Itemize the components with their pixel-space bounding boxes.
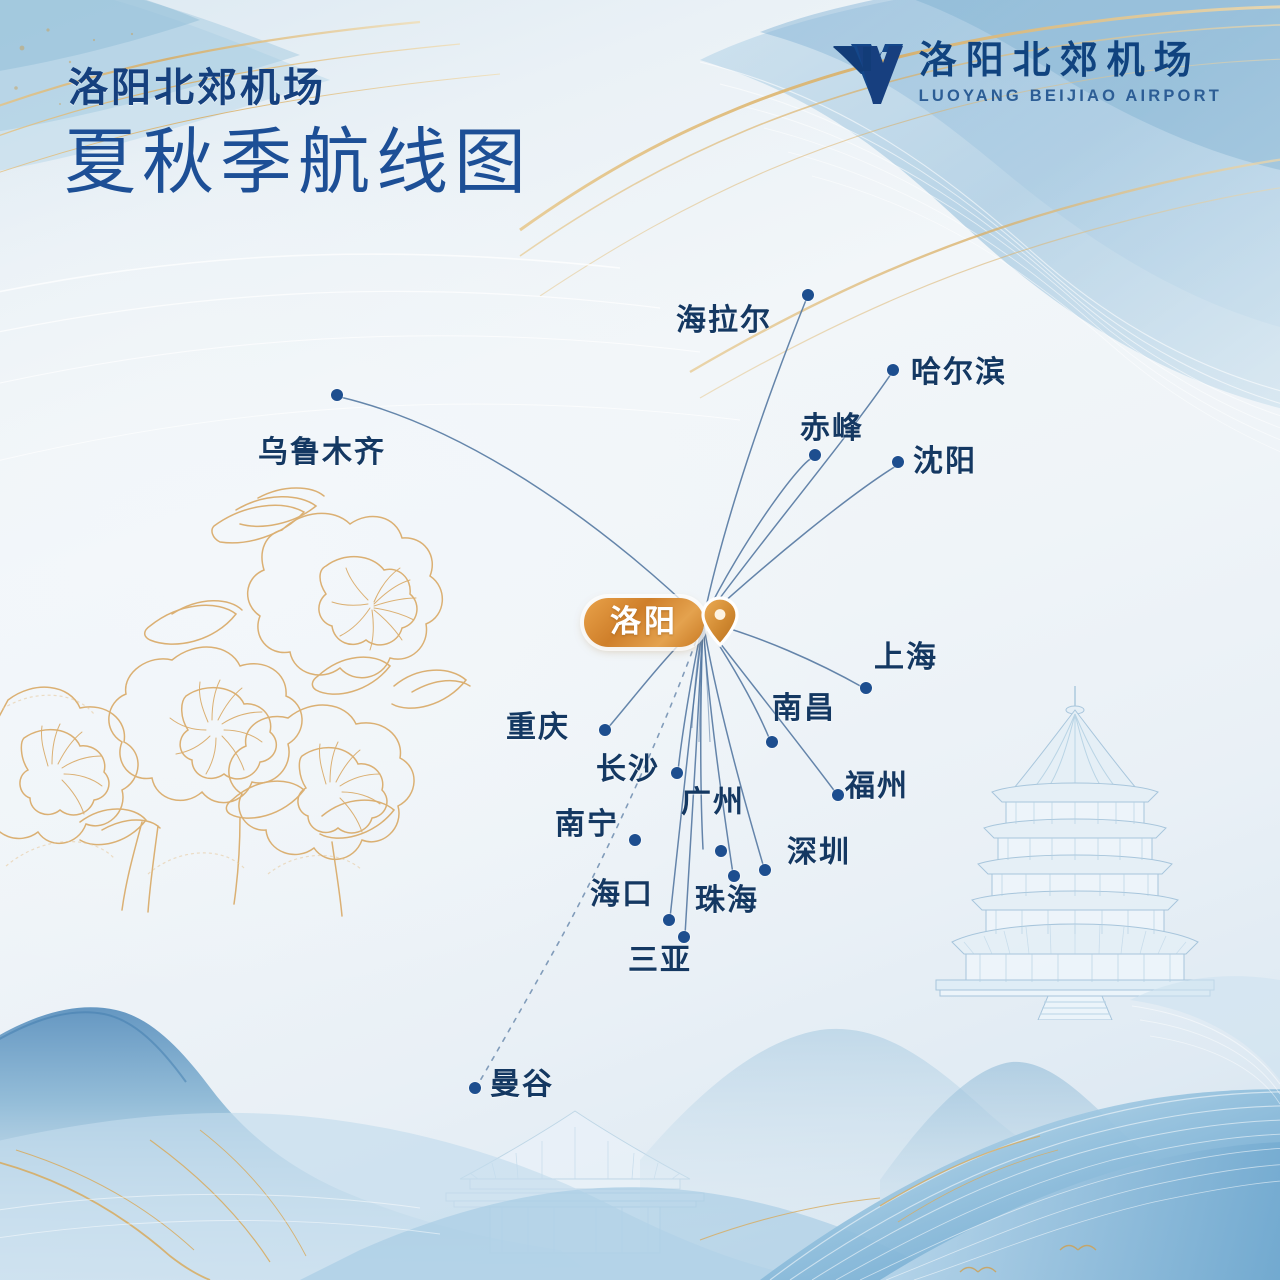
- route-hailaer: [703, 300, 806, 621]
- city-label: 海口: [590, 880, 654, 910]
- city-dot: [802, 289, 814, 301]
- city-dot: [860, 682, 872, 694]
- city-label: 福州: [845, 772, 909, 802]
- city-dot: [728, 870, 740, 882]
- city-label: 重庆: [506, 713, 570, 743]
- city-label: 乌鲁木齐: [258, 438, 386, 468]
- logo-v-mark-icon: [831, 40, 905, 108]
- city-label: 广州: [681, 788, 745, 818]
- city-dot: [715, 845, 727, 857]
- logo-text: 洛阳北郊机场 LUOYANG BEIJIAO AIRPORT: [919, 42, 1222, 106]
- page-title: 洛阳北郊机场: [68, 66, 532, 110]
- city-dot: [599, 724, 611, 736]
- city-label: 南昌: [772, 694, 836, 724]
- city-dot: [832, 789, 844, 801]
- city-label: 长沙: [596, 755, 660, 785]
- city-dot: [809, 449, 821, 461]
- city-dot: [469, 1082, 481, 1094]
- city-label: 三亚: [628, 946, 692, 976]
- city-label: 哈尔滨: [911, 358, 1007, 388]
- airport-logo: 洛阳北郊机场 LUOYANG BEIJIAO AIRPORT: [831, 40, 1222, 108]
- route-shenzhen: [703, 621, 764, 868]
- chinese-gate-pavilion-icon: [430, 1105, 720, 1255]
- city-label: 赤峰: [800, 414, 864, 444]
- city-label: 南宁: [555, 810, 619, 840]
- city-label: 上海: [874, 643, 938, 673]
- city-dot: [887, 364, 899, 376]
- logo-name-en: LUOYANG BEIJIAO AIRPORT: [919, 87, 1222, 106]
- city-label: 海拉尔: [676, 306, 772, 336]
- city-label: 珠海: [695, 886, 759, 916]
- map-pin-icon: [700, 596, 740, 648]
- city-dot: [671, 767, 683, 779]
- route-map-poster: 洛阳北郊机场 夏秋季航线图 洛阳北郊机场 LUOYANG BEIJIAO AIR…: [0, 0, 1280, 1280]
- route-bangkok-dashed: [477, 621, 703, 1086]
- city-label: 深圳: [787, 838, 851, 868]
- page-subtitle: 夏秋季航线图: [64, 118, 532, 208]
- hub-pill: 洛阳: [584, 598, 704, 647]
- city-label: 曼谷: [490, 1070, 554, 1100]
- city-dot: [678, 931, 690, 943]
- city-dot: [663, 914, 675, 926]
- hub-marker-luoyang[interactable]: 洛阳: [584, 596, 740, 648]
- city-dot: [766, 736, 778, 748]
- peony-flower-line-art-icon: [0, 470, 482, 940]
- hub-label: 洛阳: [610, 604, 678, 639]
- title-block: 洛阳北郊机场 夏秋季航线图: [68, 66, 532, 208]
- city-dot: [759, 864, 771, 876]
- logo-name-cn: 洛阳北郊机场: [919, 42, 1222, 82]
- route-zhuhai: [703, 621, 733, 874]
- city-label: 沈阳: [913, 447, 977, 477]
- city-dot: [892, 456, 904, 468]
- city-dot: [331, 389, 343, 401]
- city-dot: [629, 834, 641, 846]
- pagoda-tower-icon: [930, 680, 1220, 1020]
